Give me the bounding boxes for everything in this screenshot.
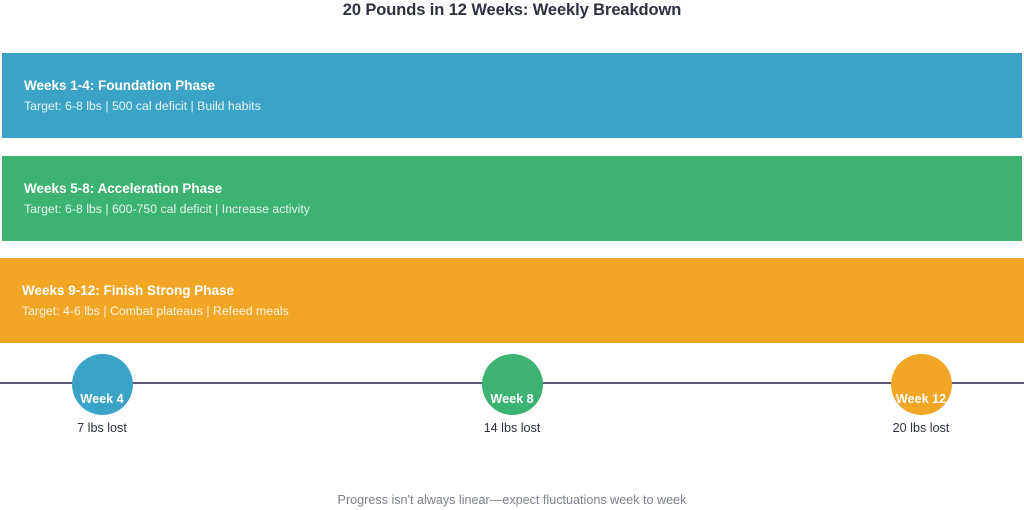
milestone-caption-week-8: 14 lbs lost [392, 421, 632, 435]
footer-note: Progress isn't always linear—expect fluc… [0, 493, 1024, 507]
phase-detail-acceleration: Target: 6-8 lbs | 600-750 cal deficit | … [24, 201, 1022, 217]
phase-bar-foundation: Weeks 1-4: Foundation Phase Target: 6-8 … [2, 53, 1022, 138]
milestone-caption-week-4: 7 lbs lost [0, 421, 222, 435]
milestone-label-week-12: Week 12 [896, 392, 946, 406]
milestone-marker-week-8: Week 8 [482, 354, 543, 415]
milestone-marker-week-12: Week 12 [891, 354, 952, 415]
phase-title-foundation: Weeks 1-4: Foundation Phase [24, 77, 1022, 95]
weight-loss-infographic: 20 Pounds in 12 Weeks: Weekly Breakdown … [0, 0, 1024, 510]
milestone-caption-week-12: 20 lbs lost [801, 421, 1024, 435]
phase-bar-finish-strong: Weeks 9-12: Finish Strong Phase Target: … [0, 258, 1024, 343]
phase-title-finish-strong: Weeks 9-12: Finish Strong Phase [22, 282, 1024, 300]
milestone-marker-week-4: Week 4 [72, 354, 133, 415]
phase-title-acceleration: Weeks 5-8: Acceleration Phase [24, 180, 1022, 198]
phase-detail-foundation: Target: 6-8 lbs | 500 cal deficit | Buil… [24, 98, 1022, 114]
milestone-label-week-8: Week 8 [490, 392, 533, 406]
phase-detail-finish-strong: Target: 4-6 lbs | Combat plateaus | Refe… [22, 303, 1024, 319]
page-title: 20 Pounds in 12 Weeks: Weekly Breakdown [0, 0, 1024, 20]
milestone-label-week-4: Week 4 [80, 392, 123, 406]
phase-bar-acceleration: Weeks 5-8: Acceleration Phase Target: 6-… [2, 156, 1022, 241]
